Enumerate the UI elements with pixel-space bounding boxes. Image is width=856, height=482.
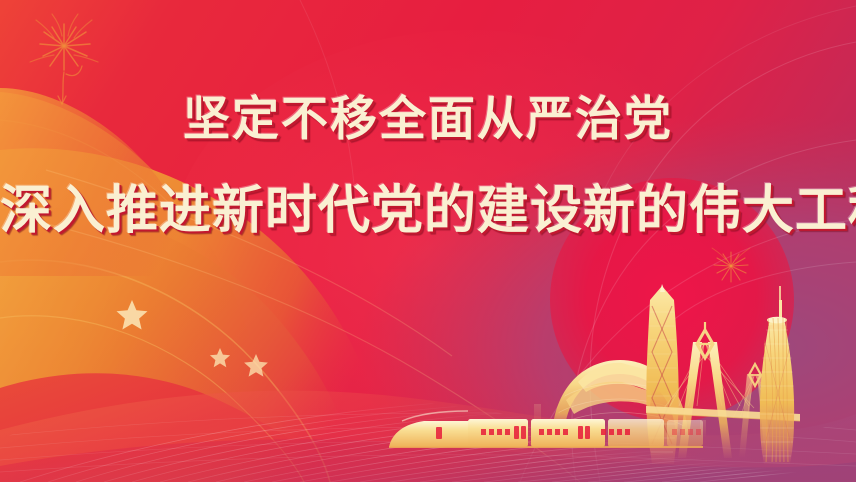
star-large — [117, 300, 148, 330]
decorations-layer — [0, 0, 856, 482]
star-small — [210, 348, 230, 367]
firework-top-left — [30, 14, 98, 104]
star-medium — [244, 354, 268, 377]
firework-center-right — [712, 248, 750, 282]
banner-canvas: 坚定不移全面从严治党 深入推进新时代党的建设新的伟大工程 — [0, 0, 856, 482]
stars-group — [117, 300, 268, 377]
